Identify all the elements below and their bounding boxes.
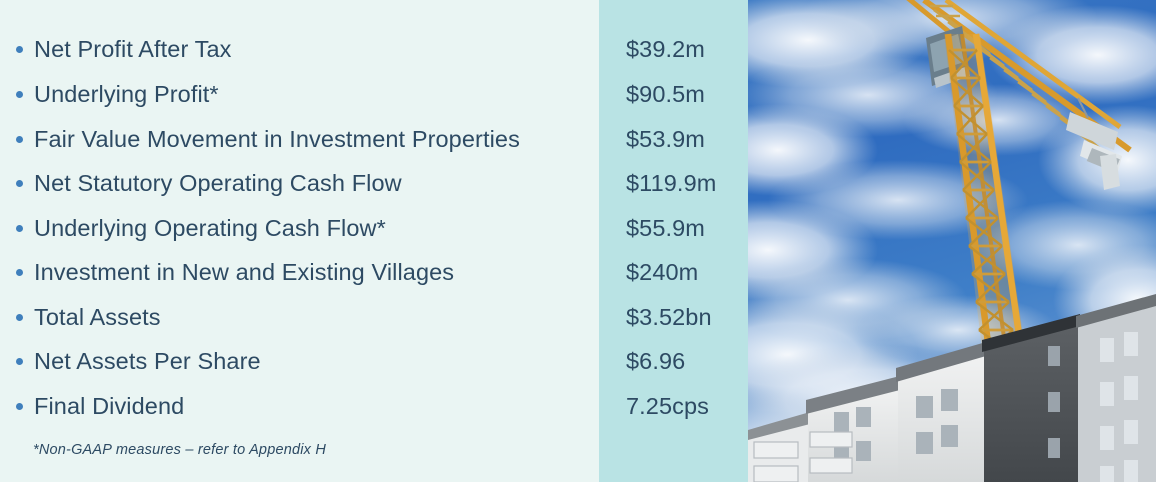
metric-label: Final Dividend <box>34 393 184 420</box>
metric-value: $3.52bn <box>626 301 712 333</box>
metric-label: Underlying Profit* <box>34 81 219 108</box>
metric-label: Net Profit After Tax <box>34 36 231 63</box>
bullet-icon <box>16 180 23 187</box>
metric-label: Underlying Operating Cash Flow* <box>34 215 386 242</box>
metrics-label-column: Net Profit After Tax Underlying Profit* … <box>0 0 599 482</box>
metric-row-label: Total Assets <box>16 301 161 333</box>
metric-value: $240m <box>626 256 698 288</box>
bullet-icon <box>16 225 23 232</box>
metric-value: 7.25cps <box>626 390 709 422</box>
metric-value: $90.5m <box>626 78 705 110</box>
financial-highlights-slide: Net Profit After Tax Underlying Profit* … <box>0 0 1156 482</box>
metric-value: $6.96 <box>626 345 685 377</box>
bullet-icon <box>16 46 23 53</box>
metric-row-label: Fair Value Movement in Investment Proper… <box>16 123 520 155</box>
metric-row-label: Net Assets Per Share <box>16 345 261 377</box>
bullet-icon <box>16 136 23 143</box>
metric-label: Fair Value Movement in Investment Proper… <box>34 126 520 153</box>
metric-value: $53.9m <box>626 123 705 155</box>
metric-row-label: Net Profit After Tax <box>16 33 231 65</box>
construction-crane-photo <box>748 0 1156 482</box>
metric-value: $55.9m <box>626 212 705 244</box>
building-windows-dark-block <box>1048 346 1060 458</box>
metric-label: Investment in New and Existing Villages <box>34 259 454 286</box>
metric-row-label: Net Statutory Operating Cash Flow <box>16 167 402 199</box>
bullet-icon <box>16 314 23 321</box>
bullet-icon <box>16 403 23 410</box>
metric-row-label: Underlying Profit* <box>16 78 219 110</box>
metric-row-label: Underlying Operating Cash Flow* <box>16 212 386 244</box>
footnote-text: *Non-GAAP measures – refer to Appendix H <box>33 442 326 458</box>
metric-label: Net Assets Per Share <box>34 348 261 375</box>
bullet-icon <box>16 91 23 98</box>
metric-value: $119.9m <box>626 167 716 199</box>
metric-label: Total Assets <box>34 304 161 331</box>
bullet-icon <box>16 269 23 276</box>
metric-label: Net Statutory Operating Cash Flow <box>34 170 402 197</box>
metrics-value-column: $39.2m $90.5m $53.9m $119.9m $55.9m $240… <box>599 0 748 482</box>
metric-row-label: Investment in New and Existing Villages <box>16 256 454 288</box>
bullet-icon <box>16 358 23 365</box>
metric-row-label: Final Dividend <box>16 390 184 422</box>
metric-value: $39.2m <box>626 33 705 65</box>
crane-photo-illustration <box>748 0 1156 482</box>
